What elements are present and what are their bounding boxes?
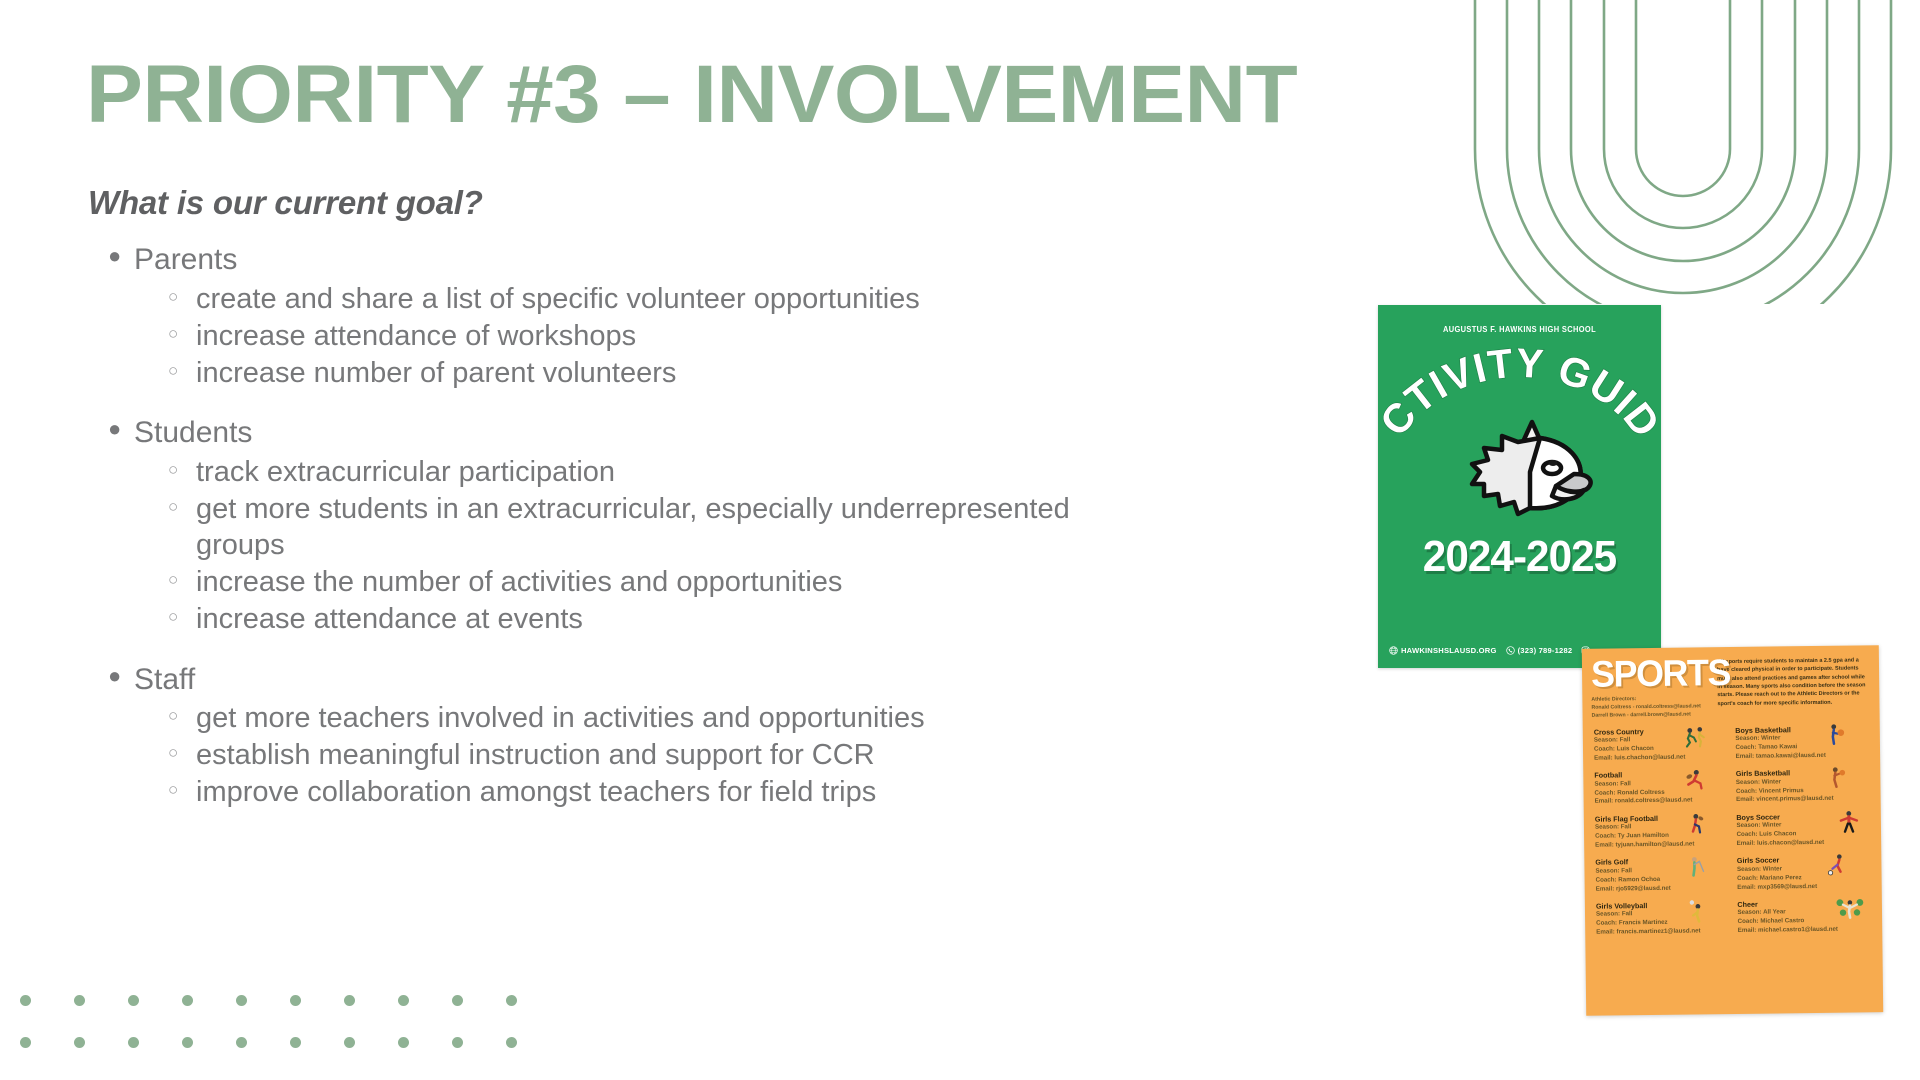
sport-email: Email: vincent.primus@lausd.net [1736,795,1872,805]
sport-entry: Girls Soccer Season: Winter Coach: Maria… [1737,856,1873,893]
dot-row [20,1037,517,1048]
goal-item: ○ increase number of parent volunteers [108,356,1138,392]
goal-item: ○ increase attendance at events [108,602,1138,638]
goal-item-text: get more students in an extracurricular,… [196,492,1138,564]
disc-bullet-icon: ● [108,660,134,692]
goals-list: ● Parents ○ create and share a list of s… [108,240,1138,812]
goal-group-heading: ● Parents [108,240,1138,280]
sports-columns: Cross Country Season: Fall Coach: Luis C… [1583,716,1883,938]
circle-bullet-icon: ○ [168,775,196,805]
goal-item-text: track extracurricular participation [196,455,1138,491]
dot-icon [452,1037,463,1048]
dot-icon [74,995,85,1006]
sport-email: Email: luis.chachon@lausd.net [1594,753,1730,763]
goal-group-heading: ● Students [108,413,1138,453]
goal-item: ○ track extracurricular participation [108,455,1138,491]
goal-sublist: ○ get more teachers involved in activiti… [108,701,1138,811]
goal-item-text: increase attendance at events [196,602,1138,638]
sport-email: Email: luis.chacon@lausd.net [1737,838,1873,848]
goal-item-text: create and share a list of specific volu… [196,282,1138,318]
sport-entry: Boys Basketball Season: Winter Coach: Ta… [1735,725,1871,762]
goal-sublist: ○ track extracurricular participation ○ … [108,455,1138,638]
goal-group-heading: ● Staff [108,660,1138,700]
goal-group-students: ● Students ○ track extracurricular parti… [108,413,1138,637]
dot-icon [506,995,517,1006]
sport-entry: Boys Soccer Season: Winter Coach: Luis C… [1736,812,1872,849]
circle-bullet-icon: ○ [168,701,196,731]
dot-icon [398,1037,409,1048]
dot-icon [398,995,409,1006]
activity-guide-poster[interactable]: AUGUSTUS F. HAWKINS HIGH SCHOOL ACTIVITY… [1378,305,1661,668]
sport-entry: Girls Volleyball Season: Fall Coach: Fra… [1596,901,1732,938]
sports-poster[interactable]: SPORTS Athletic Directors: Ronald Coltre… [1582,645,1883,1016]
circle-bullet-icon: ○ [168,282,196,312]
dot-icon [128,995,139,1006]
football-player-icon [1682,768,1708,794]
disc-bullet-icon: ● [108,413,134,445]
dot-icon [344,1037,355,1048]
circle-bullet-icon: ○ [168,602,196,632]
dot-icon [182,1037,193,1048]
sports-left-column: Cross Country Season: Fall Coach: Luis C… [1594,727,1732,938]
circle-bullet-icon: ○ [168,356,196,386]
goal-item-text: increase number of parent volunteers [196,356,1138,392]
footer-phone[interactable]: (323) 789-1282 [1506,646,1573,655]
sport-email: Email: ronald.coltress@lausd.net [1595,796,1731,806]
dot-icon [74,1037,85,1048]
sport-email: Email: tyjuan.hamilton@lausd.net [1595,840,1731,850]
footer-website[interactable]: HAWKINSHSLAUSD.ORG [1389,646,1497,655]
disc-bullet-icon: ● [108,240,134,272]
sports-right-column: Boys Basketball Season: Winter Coach: Ta… [1735,725,1873,936]
sport-entry: Cheer Season: All Year Coach: Michael Ca… [1737,899,1873,936]
phone-icon [1506,646,1515,655]
sports-poster-header: SPORTS Athletic Directors: Ronald Coltre… [1582,645,1880,719]
goal-sublist: ○ create and share a list of specific vo… [108,282,1138,392]
dot-icon [290,1037,301,1048]
goal-item: ○ improve collaboration amongst teachers… [108,775,1138,811]
circle-bullet-icon: ○ [168,455,196,485]
circle-bullet-icon: ○ [168,319,196,349]
dot-row [20,995,517,1006]
athletic-director-1: Ronald Coltress - ronald.coltress@lausd.… [1591,702,1711,712]
dot-icon [182,995,193,1006]
sport-entry: Cross Country Season: Fall Coach: Luis C… [1594,727,1730,764]
circle-bullet-icon: ○ [168,492,196,522]
flag-football-icon [1682,811,1708,837]
goal-group-staff: ● Staff ○ get more teachers involved in … [108,660,1138,811]
dot-icon [290,995,301,1006]
subtitle-question: What is our current goal? [88,184,483,222]
dot-grid-decoration [20,995,517,1048]
goal-item: ○ get more teachers involved in activiti… [108,701,1138,737]
basketball-player-icon [1823,722,1849,748]
footer-website-text: HAWKINSHSLAUSD.ORG [1401,646,1497,655]
golfer-icon [1683,855,1709,881]
circle-bullet-icon: ○ [168,738,196,768]
volleyball-icon [1683,898,1709,924]
globe-icon [1389,646,1398,655]
footer-phone-text: (323) 789-1282 [1518,646,1573,655]
goal-item: ○ increase the number of activities and … [108,565,1138,601]
goal-item-text: establish meaningful instruction and sup… [196,738,1138,774]
page-title: PRIORITY #3 – INVOLVEMENT [86,54,1297,136]
sport-email: Email: tamao.kawai@lausd.net [1736,751,1872,761]
sport-entry: Girls Golf Season: Fall Coach: Ramon Och… [1595,857,1731,894]
sport-entry: Girls Basketball Season: Winter Coach: V… [1736,769,1872,806]
goal-group-label: Staff [134,660,195,700]
goal-item: ○ establish meaningful instruction and s… [108,738,1138,774]
dot-icon [506,1037,517,1048]
sport-email: Email: rjo5929@lausd.net [1596,884,1732,894]
sports-title-block: SPORTS Athletic Directors: Ronald Coltre… [1591,655,1712,719]
goal-group-label: Students [134,413,252,453]
dot-icon [20,995,31,1006]
sport-email: Email: mxp3569@lausd.net [1737,882,1873,892]
dot-icon [344,995,355,1006]
sport-email: Email: francis.martinez1@lausd.net [1596,927,1732,937]
basketball-player-icon [1823,766,1849,792]
goal-item: ○ get more students in an extracurricula… [108,492,1138,564]
dot-icon [452,995,463,1006]
soccer-player-icon [1824,853,1850,879]
goal-item: ○ create and share a list of specific vo… [108,282,1138,318]
dot-icon [236,1037,247,1048]
goal-item: ○ increase attendance of workshops [108,319,1138,355]
goal-item-text: improve collaboration amongst teachers f… [196,775,1138,811]
circle-bullet-icon: ○ [168,565,196,595]
sport-entry: Football Season: Fall Coach: Ronald Colt… [1594,770,1730,807]
nested-arcs-decoration [1443,0,1920,304]
athletic-director-2: Darrell Brown - darrell.brown@lausd.net [1592,710,1712,720]
cheer-icon [1833,896,1867,922]
activity-guide-year: 2024-2025 [1384,532,1656,582]
soccer-player-icon [1832,809,1866,835]
sports-title: SPORTS [1591,655,1708,692]
dot-icon [128,1037,139,1048]
slide-canvas: PRIORITY #3 – INVOLVEMENT What is our cu… [0,0,1920,1080]
goal-group-parents: ● Parents ○ create and share a list of s… [108,240,1138,391]
dot-icon [236,995,247,1006]
dot-icon [20,1037,31,1048]
runners-icon [1681,724,1707,750]
sport-entry: Girls Flag Football Season: Fall Coach: … [1595,814,1731,851]
goal-group-label: Parents [134,240,237,280]
sport-email: Email: michael.castro1@lausd.net [1738,925,1874,935]
goal-item-text: get more teachers involved in activities… [196,701,1138,737]
hawk-mascot-icon [1444,410,1596,530]
athletic-directors-block: Athletic Directors: Ronald Coltress - ro… [1591,694,1711,720]
goal-item-text: increase attendance of workshops [196,319,1138,355]
sports-requirements-text: All sports require students to maintain … [1717,653,1871,718]
goal-item-text: increase the number of activities and op… [196,565,1138,601]
